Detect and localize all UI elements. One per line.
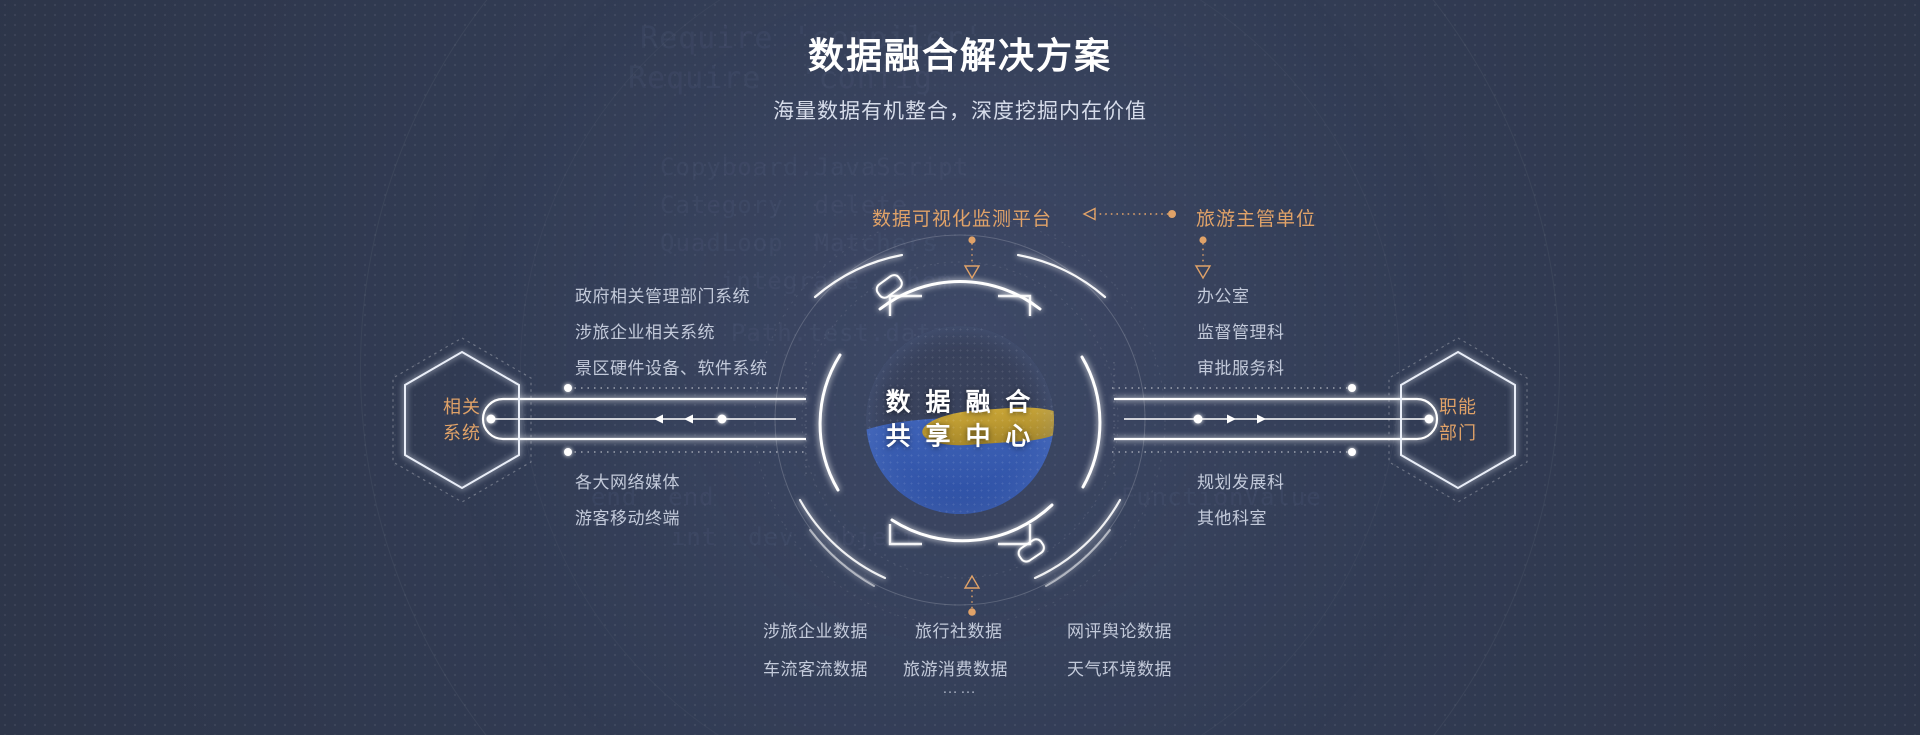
- department-planning-development[interactable]: 规划发展科: [1197, 468, 1285, 493]
- node-functional-departments[interactable]: 职能 部门: [1399, 354, 1517, 486]
- department-office[interactable]: 办公室: [1197, 282, 1250, 307]
- hex-line2: 系统: [403, 420, 521, 446]
- source-government-systems[interactable]: 政府相关管理部门系统: [575, 282, 750, 307]
- core-node: 数 据 融 合 共 享 中 心: [780, 240, 1140, 600]
- data-tourism-consumption[interactable]: 旅游消费数据: [903, 655, 1008, 680]
- source-tourist-mobile-terminal[interactable]: 游客移动终端: [575, 504, 680, 529]
- data-weather-environment[interactable]: 天气环境数据: [1067, 655, 1172, 680]
- department-approval-service[interactable]: 审批服务科: [1197, 354, 1285, 379]
- data-tourism-enterprise[interactable]: 涉旅企业数据: [763, 617, 868, 642]
- header: 数据融合解决方案 海量数据有机整合，深度挖掘内在价值: [0, 34, 1920, 125]
- source-tourism-enterprise-systems[interactable]: 涉旅企业相关系统: [575, 318, 715, 343]
- node-related-systems[interactable]: 相关 系统: [403, 354, 521, 486]
- hex-line2: 部门: [1399, 420, 1517, 446]
- label-tourism-authority[interactable]: 旅游主管单位: [1196, 204, 1316, 231]
- hex-line1: 职能: [1399, 394, 1517, 420]
- data-travel-agency[interactable]: 旅行社数据: [915, 617, 1003, 642]
- hex-line1: 相关: [403, 394, 521, 420]
- core-label: 数 据 融 合 共 享 中 心: [830, 386, 1090, 454]
- data-ellipsis: ……: [0, 680, 1920, 698]
- data-online-opinion[interactable]: 网评舆论数据: [1067, 617, 1172, 642]
- source-network-media[interactable]: 各大网络媒体: [575, 468, 680, 493]
- page-title: 数据融合解决方案: [0, 34, 1920, 77]
- core-label-line2: 共 享 中 心: [830, 420, 1090, 454]
- source-scenic-hardware-software[interactable]: 景区硬件设备、软件系统: [575, 354, 768, 379]
- core-label-line1: 数 据 融 合: [830, 386, 1090, 420]
- page-subtitle: 海量数据有机整合，深度挖掘内在价值: [0, 95, 1920, 125]
- label-visualization-platform[interactable]: 数据可视化监测平台: [872, 204, 1052, 231]
- node-functional-departments-label: 职能 部门: [1399, 394, 1517, 446]
- department-supervision[interactable]: 监督管理科: [1197, 318, 1285, 343]
- data-traffic-passenger-flow[interactable]: 车流客流数据: [763, 655, 868, 680]
- department-other-offices[interactable]: 其他科室: [1197, 504, 1267, 529]
- node-related-systems-label: 相关 系统: [403, 394, 521, 446]
